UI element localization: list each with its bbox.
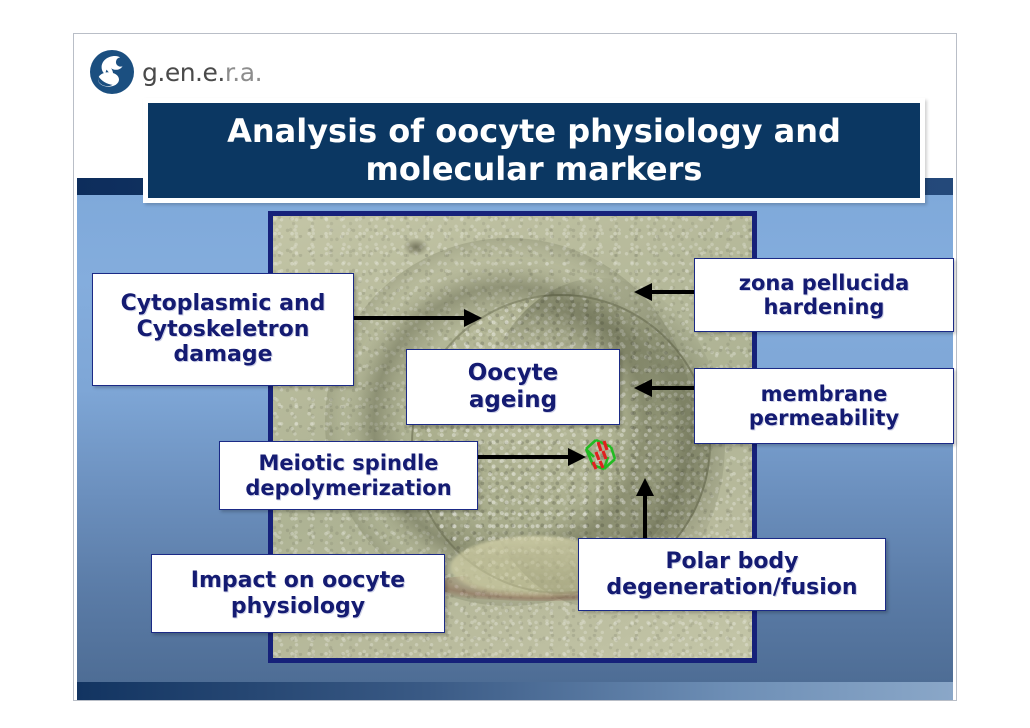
genera-embryo-logo-icon <box>88 48 136 96</box>
callout-cytoplasmic-damage[interactable]: Cytoplasmic and Cytoskeletron damage <box>92 273 354 386</box>
slide-title-plate: Analysis of oocyte physiology and molecu… <box>143 98 925 203</box>
brand-logo: g.en.e.r.a. <box>88 47 348 97</box>
callout-membrane-permeability-label: membrane permeability <box>743 380 905 433</box>
callout-impact-on-oocyte-physiology-label: Impact on oocyte physiology <box>185 566 411 621</box>
callout-meiotic-spindle-depolymerization[interactable]: Meiotic spindle depolymerization <box>219 441 478 510</box>
brand-logo-text-dark: g.en.e. <box>142 58 225 87</box>
slide-canvas: g.en.e.r.a. Analysis of oocyte physiolog… <box>0 0 1030 728</box>
callout-polar-body-degeneration-label: Polar body degeneration/fusion <box>600 547 863 602</box>
footer-accent-bar <box>77 682 953 700</box>
callout-oocyte-ageing[interactable]: Oocyte ageing <box>406 349 620 425</box>
page-title: Analysis of oocyte physiology and molecu… <box>148 113 920 188</box>
slide-title-inner: Analysis of oocyte physiology and molecu… <box>148 103 920 198</box>
callout-zona-pellucida-hardening-label: zona pellucida hardening <box>733 269 916 322</box>
callout-polar-body-degeneration[interactable]: Polar body degeneration/fusion <box>578 538 886 611</box>
meiotic-spindle-marker-icon <box>580 435 622 477</box>
brand-logo-text-light: r.a. <box>225 58 262 87</box>
callout-cytoplasmic-damage-label: Cytoplasmic and Cytoskeletron damage <box>115 289 332 370</box>
callout-zona-pellucida-hardening[interactable]: zona pellucida hardening <box>694 258 954 332</box>
brand-logo-text: g.en.e.r.a. <box>142 58 262 87</box>
callout-impact-on-oocyte-physiology[interactable]: Impact on oocyte physiology <box>151 554 445 633</box>
callout-membrane-permeability[interactable]: membrane permeability <box>694 368 954 444</box>
callout-oocyte-ageing-label: Oocyte ageing <box>462 358 565 415</box>
callout-meiotic-spindle-depolymerization-label: Meiotic spindle depolymerization <box>239 449 457 502</box>
micrograph-debris <box>403 238 429 256</box>
